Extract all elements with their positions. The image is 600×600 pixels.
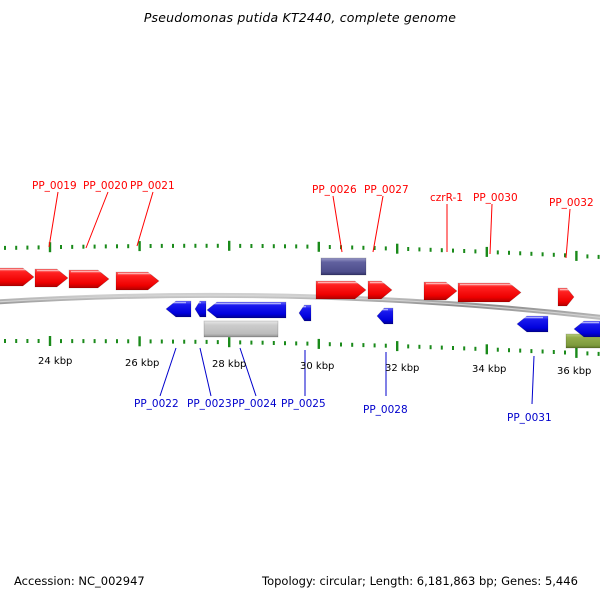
forward-gene-leader-line xyxy=(373,196,383,252)
reverse-gene-label-pp-0031[interactable]: PP_0031 xyxy=(507,412,552,424)
top-tick-minor xyxy=(150,244,152,248)
top-tick-minor xyxy=(273,244,275,248)
bottom-tick-minor xyxy=(60,339,62,343)
bottom-tick-minor xyxy=(564,351,566,355)
bottom-tick-minor xyxy=(150,339,152,343)
reverse-gene-leader-line xyxy=(200,348,211,396)
bottom-tick-minor xyxy=(340,343,342,347)
bottom-tick-minor xyxy=(105,339,107,343)
bottom-tick-major xyxy=(486,344,488,354)
forward-gene-label-pp-0019[interactable]: PP_0019 xyxy=(32,180,77,192)
top-tick-minor xyxy=(172,244,174,248)
gene-fwd-3[interactable] xyxy=(69,270,109,288)
top-tick-minor xyxy=(82,245,84,249)
forward-strand-gene-layer xyxy=(0,268,574,306)
bottom-tick-minor xyxy=(116,339,118,343)
bottom-tick-minor xyxy=(452,346,454,350)
top-tick-minor xyxy=(329,245,331,249)
bottom-tick-minor xyxy=(497,348,499,352)
bottom-tick-minor xyxy=(262,341,264,345)
bottom-tick-minor xyxy=(273,341,275,345)
reverse-gene-label-pp-0022[interactable]: PP_0022 xyxy=(134,398,179,410)
top-tick-minor xyxy=(530,252,532,256)
bottom-tick-major xyxy=(396,341,398,351)
top-tick-minor xyxy=(71,245,73,249)
forward-gene-leader-line xyxy=(137,192,153,246)
bottom-tick-minor xyxy=(586,351,588,355)
top-tick-minor xyxy=(4,246,6,250)
gene-fwd-8[interactable] xyxy=(458,283,521,302)
bottom-tick-minor xyxy=(161,340,163,344)
top-tick-minor xyxy=(38,245,40,249)
top-tick-minor xyxy=(430,248,432,252)
top-tick-minor xyxy=(183,244,185,248)
gene-rev-1[interactable] xyxy=(166,301,191,317)
top-tick-minor xyxy=(542,252,544,256)
bottom-tick-minor xyxy=(508,348,510,352)
bottom-tick-minor xyxy=(284,341,286,345)
top-tick-minor xyxy=(284,244,286,248)
bottom-tick-minor xyxy=(553,350,555,354)
bottom-tick-minor xyxy=(385,344,387,348)
gene-rev-3[interactable] xyxy=(207,302,286,318)
bottom-tick-minor xyxy=(474,347,476,351)
gene-fwd-7[interactable] xyxy=(424,282,457,300)
bottom-tick-minor xyxy=(206,340,208,344)
bottom-tick-minor xyxy=(598,352,600,356)
genome-stats-text: Topology: circular; Length: 6,181,863 bp… xyxy=(262,574,578,588)
bottom-tick-minor xyxy=(542,350,544,354)
scale-label-34-kbp: 34 kbp xyxy=(472,364,506,375)
bottom-tick-minor xyxy=(172,340,174,344)
top-tick-minor xyxy=(598,255,600,259)
bottom-tick-minor xyxy=(183,340,185,344)
bottom-tick-minor xyxy=(4,339,6,343)
top-tick-minor xyxy=(553,253,555,257)
top-tick-minor xyxy=(497,250,499,254)
top-tick-minor xyxy=(351,246,353,250)
top-tick-minor xyxy=(194,244,196,248)
top-tick-minor xyxy=(116,244,118,248)
gene-rev-5[interactable] xyxy=(377,308,393,324)
bottom-tick-minor xyxy=(217,340,219,344)
top-tick-minor xyxy=(306,245,308,249)
top-tick-minor xyxy=(262,244,264,248)
bottom-tick-minor xyxy=(418,345,420,349)
bottom-tick-minor xyxy=(26,339,28,343)
bottom-tick-minor xyxy=(329,342,331,346)
gene-fwd-4[interactable] xyxy=(116,272,159,290)
tick-row-bottom xyxy=(4,336,600,358)
top-tick-minor xyxy=(385,246,387,250)
forward-gene-leader-line xyxy=(490,204,492,254)
reverse-gene-label-pp-0023[interactable]: PP_0023 xyxy=(187,398,232,410)
top-tick-minor xyxy=(474,249,476,253)
scale-label-30-kbp: 30 kbp xyxy=(300,361,334,372)
forward-gene-label-pp-0032[interactable]: PP_0032 xyxy=(549,197,594,209)
bottom-tick-major xyxy=(138,336,140,346)
forward-gene-label-pp-0026[interactable]: PP_0026 xyxy=(312,184,357,196)
forward-gene-label-pp-0027[interactable]: PP_0027 xyxy=(364,184,409,196)
gene-fwd-5[interactable] xyxy=(316,281,366,299)
top-tick-minor xyxy=(94,245,96,249)
forward-gene-leader-line xyxy=(49,192,58,247)
page-title: Pseudomonas putida KT2440, complete geno… xyxy=(0,10,600,25)
scale-label-24-kbp: 24 kbp xyxy=(38,356,72,367)
top-tick-minor xyxy=(26,246,28,250)
bottom-tick-minor xyxy=(15,339,17,343)
top-tick-minor xyxy=(362,246,364,250)
bottom-tick-minor xyxy=(374,343,376,347)
bottom-tick-minor xyxy=(38,339,40,343)
reverse-gene-leader-line xyxy=(160,348,176,396)
bottom-tick-minor xyxy=(351,343,353,347)
top-tick-minor xyxy=(239,244,241,248)
top-tick-minor xyxy=(161,244,163,248)
bottom-tick-minor xyxy=(463,346,465,350)
top-tick-minor xyxy=(508,251,510,255)
reverse-gene-label-pp-0028[interactable]: PP_0028 xyxy=(363,404,408,416)
bottom-tick-minor xyxy=(71,339,73,343)
gene-fwd-2[interactable] xyxy=(35,269,68,287)
domain-gray[interactable] xyxy=(204,321,278,337)
scale-label-28-kbp: 28 kbp xyxy=(212,359,246,370)
bottom-tick-minor xyxy=(430,345,432,349)
top-tick-major xyxy=(486,247,488,257)
bottom-tick-minor xyxy=(250,341,252,345)
top-tick-minor xyxy=(295,244,297,248)
forward-gene-label-pp-0030[interactable]: PP_0030 xyxy=(473,192,518,204)
top-tick-minor xyxy=(418,247,420,251)
bottom-tick-major xyxy=(49,336,51,346)
bottom-tick-minor xyxy=(194,340,196,344)
top-tick-minor xyxy=(127,244,129,248)
gene-rev-4[interactable] xyxy=(299,305,311,321)
top-tick-major xyxy=(228,241,230,251)
forward-gene-label-czrr-1[interactable]: czrR-1 xyxy=(430,192,463,204)
top-tick-minor xyxy=(250,244,252,248)
bottom-tick-major xyxy=(575,348,577,358)
bottom-tick-minor xyxy=(306,342,308,346)
top-tick-minor xyxy=(60,245,62,249)
reverse-gene-label-pp-0024[interactable]: PP_0024 xyxy=(232,398,277,410)
top-tick-minor xyxy=(441,248,443,252)
top-tick-minor xyxy=(407,247,409,251)
gene-fwd-1[interactable] xyxy=(0,268,34,286)
gene-fwd-9[interactable] xyxy=(558,288,574,306)
gene-rev-2[interactable] xyxy=(195,301,206,317)
reverse-gene-leader-line xyxy=(532,356,534,404)
forward-gene-label-pp-0020[interactable]: PP_0020 xyxy=(83,180,128,192)
top-tick-major xyxy=(138,241,140,251)
reverse-gene-label-pp-0025[interactable]: PP_0025 xyxy=(281,398,326,410)
top-tick-minor xyxy=(586,254,588,258)
gene-rev-6[interactable] xyxy=(517,316,548,332)
bottom-tick-minor xyxy=(82,339,84,343)
top-tick-minor xyxy=(463,249,465,253)
genome-viewer: Pseudomonas putida KT2440, complete geno… xyxy=(0,0,600,600)
top-tick-minor xyxy=(105,244,107,248)
bottom-tick-major xyxy=(318,339,320,349)
top-tick-minor xyxy=(519,251,521,255)
top-tick-major xyxy=(396,244,398,254)
domain-navy[interactable] xyxy=(321,258,366,275)
top-tick-major xyxy=(575,251,577,261)
tick-row-top xyxy=(4,241,600,261)
scale-label-36-kbp: 36 kbp xyxy=(557,366,591,377)
top-tick-minor xyxy=(206,244,208,248)
bottom-tick-minor xyxy=(441,346,443,350)
top-tick-minor xyxy=(15,246,17,250)
forward-gene-leader-line xyxy=(333,196,342,252)
bottom-tick-major xyxy=(228,337,230,347)
gene-fwd-6[interactable] xyxy=(368,281,392,299)
bottom-tick-minor xyxy=(530,349,532,353)
reverse-gene-leader-line xyxy=(240,348,256,396)
scale-label-32-kbp: 32 kbp xyxy=(385,363,419,374)
forward-gene-label-pp-0021[interactable]: PP_0021 xyxy=(130,180,175,192)
forward-gene-leader-line xyxy=(86,192,108,248)
top-tick-major xyxy=(318,242,320,252)
bottom-tick-minor xyxy=(239,340,241,344)
forward-gene-leader-line xyxy=(566,209,570,258)
bottom-tick-minor xyxy=(295,341,297,345)
accession-text: Accession: NC_002947 xyxy=(14,574,145,588)
bottom-tick-minor xyxy=(407,344,409,348)
bottom-tick-minor xyxy=(519,349,521,353)
top-tick-minor xyxy=(452,249,454,253)
bottom-tick-minor xyxy=(362,343,364,347)
scale-label-26-kbp: 26 kbp xyxy=(125,358,159,369)
bottom-tick-minor xyxy=(127,339,129,343)
top-tick-minor xyxy=(217,244,219,248)
bottom-tick-minor xyxy=(94,339,96,343)
